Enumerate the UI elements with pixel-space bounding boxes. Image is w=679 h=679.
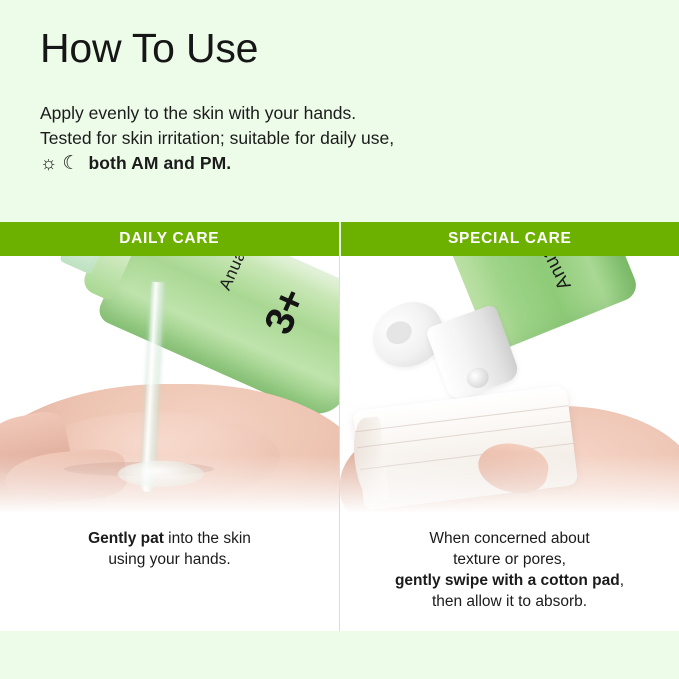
sun-icon: ☼: [40, 154, 57, 173]
caption-text: using your hands.: [108, 551, 230, 568]
am-pm-text: both AM and PM.: [88, 151, 231, 176]
special-care-photo: Anua: [340, 256, 679, 524]
bottle-logo-text: 3+: [256, 283, 315, 341]
cotton-pad-fold: [355, 405, 569, 432]
daily-care-photo: Anua 3+: [0, 256, 339, 524]
how-to-use-page: How To Use Apply evenly to the skin with…: [0, 0, 679, 679]
special-care-panel: Anua When concerne: [340, 256, 679, 631]
cotton-pad: [353, 385, 579, 510]
daily-care-panel: Anua 3+ Gently pat into the skin using y…: [0, 256, 339, 631]
caption-text: then allow it to absorb.: [432, 593, 587, 610]
finger-shape: [0, 408, 73, 483]
intro-paragraph: Apply evenly to the skin with your hands…: [40, 101, 640, 176]
daily-care-header: DAILY CARE: [0, 222, 339, 256]
intro-line-3: ☼ ☾ both AM and PM.: [40, 151, 640, 176]
finger-shape: [4, 446, 129, 508]
intro-line-1: Apply evenly to the skin with your hands…: [40, 101, 640, 126]
moon-icon: ☾: [62, 154, 79, 173]
intro-line-2: Tested for skin irritation; suitable for…: [40, 126, 640, 151]
caption-emphasis: gently swipe with a cotton pad: [395, 572, 620, 589]
palm-crease: [64, 462, 214, 476]
bottle-brand-text: Anua: [215, 256, 250, 293]
page-title: How To Use: [40, 28, 640, 69]
cap-lid-inner: [383, 317, 416, 348]
special-care-label: SPECIAL CARE: [448, 230, 572, 248]
cotton-pad-fold: [360, 443, 574, 470]
caption-line: Gently pat into the skin: [24, 528, 315, 549]
caption-text: into the skin: [164, 530, 251, 547]
daily-care-label: DAILY CARE: [119, 230, 219, 248]
caption-text: ,: [620, 572, 624, 589]
liquid-pool: [118, 461, 204, 487]
caption-emphasis: Gently pat: [88, 530, 164, 547]
special-care-header: SPECIAL CARE: [341, 222, 679, 256]
section-header-band: DAILY CARE SPECIAL CARE: [0, 222, 679, 256]
daily-care-caption: Gently pat into the skin using your hand…: [0, 528, 339, 570]
caption-line: When concerned about: [364, 528, 655, 549]
special-care-caption: When concerned about texture or pores, g…: [340, 528, 679, 612]
cap-nozzle: [464, 365, 492, 391]
caption-line: using your hands.: [24, 549, 315, 570]
caption-line: then allow it to absorb.: [364, 591, 655, 612]
caption-line: gently swipe with a cotton pad,: [364, 570, 655, 591]
palm-shape: [0, 384, 339, 524]
content-card: Anua 3+ Gently pat into the skin using y…: [0, 256, 679, 631]
cotton-pad-fold: [357, 421, 571, 448]
bottle-brand-text: Anua: [535, 256, 576, 293]
caption-text: When concerned about: [429, 530, 589, 547]
caption-text: texture or pores,: [453, 551, 566, 568]
caption-line: texture or pores,: [364, 549, 655, 570]
intro-block: How To Use Apply evenly to the skin with…: [40, 28, 640, 176]
